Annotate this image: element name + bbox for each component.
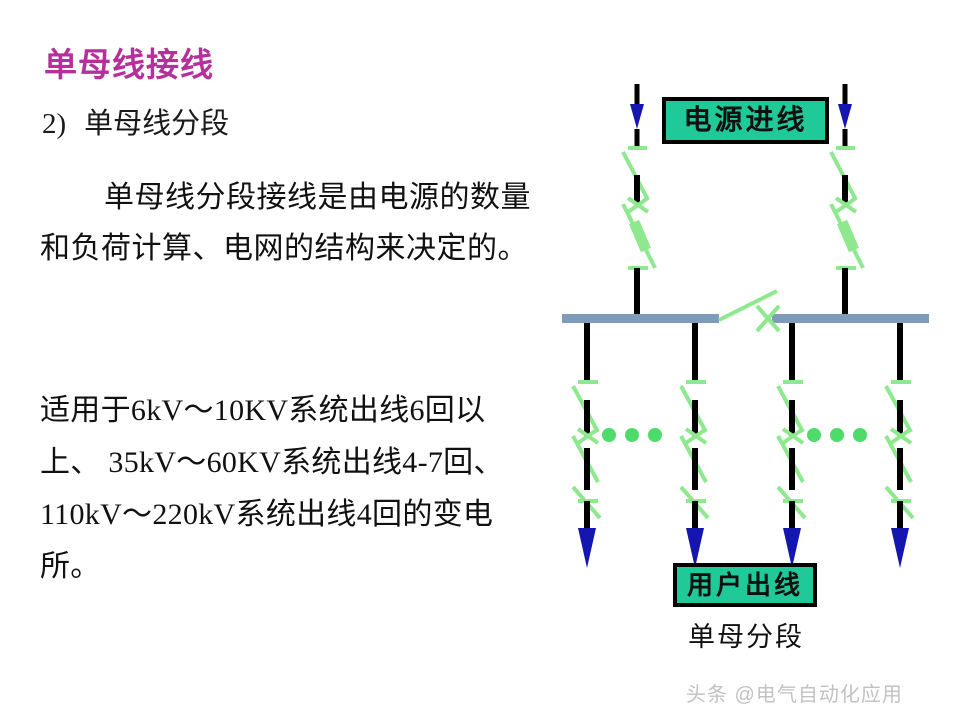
continuation-dots-left	[602, 428, 662, 442]
incoming-right-breaker-body	[842, 222, 854, 250]
incoming-right-source-arrow	[838, 104, 852, 129]
outgoing-4-load-arrow	[891, 528, 909, 568]
dot-icon	[830, 428, 844, 442]
busbar-right-segment	[772, 314, 929, 323]
continuation-dots-right	[807, 428, 867, 442]
outgoing-3-load-arrow	[783, 528, 801, 568]
slide-root: 单母线接线 2)单母线分段 单母线分段接线是由电源的数量和负荷计算、电网的结构来…	[0, 0, 960, 720]
outgoing-feeder-1	[573, 323, 600, 568]
dot-icon	[853, 428, 867, 442]
watermark: 头条 @电气自动化应用	[686, 678, 903, 707]
incoming-feeder-right	[831, 84, 863, 318]
user-outgoing-label-box: 用户出线	[673, 563, 817, 607]
outgoing-feeder-2	[681, 323, 708, 568]
source-incoming-label-box: 电源进线	[662, 97, 829, 144]
outgoing-feeder-4	[886, 323, 913, 568]
dot-icon	[807, 428, 821, 442]
outgoing-feeder-3	[778, 323, 805, 568]
incoming-left-breaker-body	[634, 222, 646, 250]
incoming-left-source-arrow	[630, 104, 644, 129]
bus-section-switch	[719, 291, 779, 331]
dot-icon	[625, 428, 639, 442]
dot-icon	[602, 428, 616, 442]
outgoing-2-load-arrow	[686, 528, 704, 568]
diagram-caption: 单母分段	[666, 615, 826, 654]
outgoing-1-load-arrow	[578, 528, 596, 568]
dot-icon	[648, 428, 662, 442]
busbar-left-segment	[562, 314, 719, 323]
incoming-feeder-left	[623, 84, 655, 318]
